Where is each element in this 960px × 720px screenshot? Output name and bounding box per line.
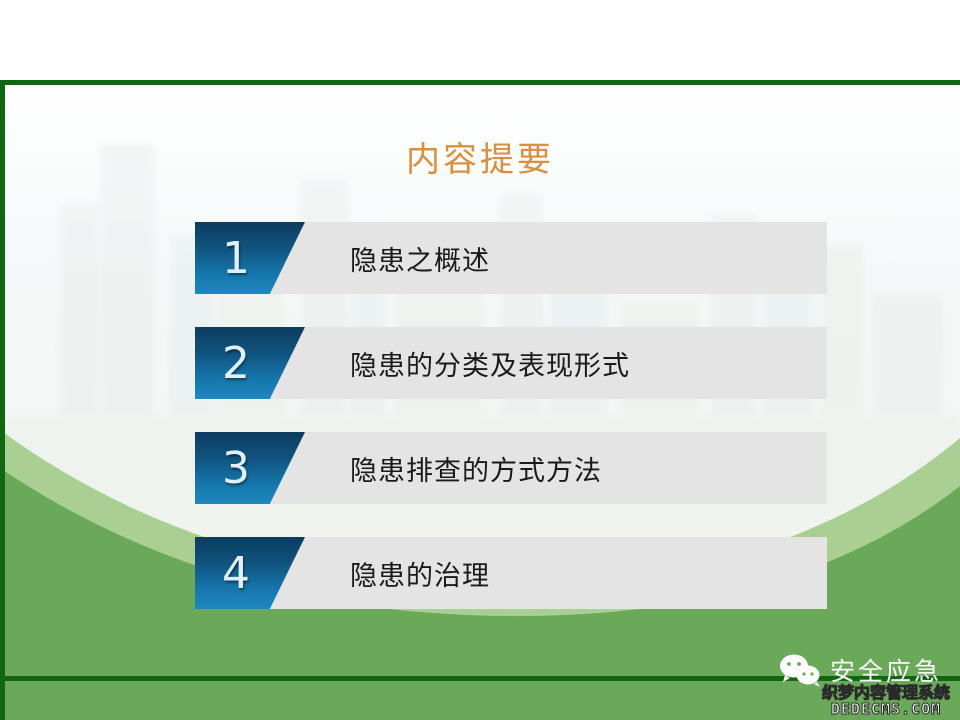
agenda-item-3[interactable]: 3 隐患排查的方式方法 <box>195 432 827 504</box>
agenda-label-4: 隐患的治理 <box>350 537 490 609</box>
agenda-number-4: 4 <box>195 537 277 609</box>
agenda-item-2[interactable]: 2 隐患的分类及表现形式 <box>195 327 827 399</box>
agenda-number-2: 2 <box>195 327 277 399</box>
agenda-number-3: 3 <box>195 432 277 504</box>
agenda-number-badge-2: 2 <box>195 327 305 399</box>
brand-name: 安全应急 <box>830 652 942 688</box>
agenda-number-1: 1 <box>195 222 277 294</box>
agenda-number-badge-3: 3 <box>195 432 305 504</box>
brand-mark: 安全应急 <box>778 652 942 688</box>
wechat-icon <box>778 653 822 687</box>
agenda-item-1[interactable]: 1 隐患之概述 <box>195 222 827 294</box>
agenda-item-4[interactable]: 4 隐患的治理 <box>195 537 827 609</box>
agenda-list: 1 隐患之概述 2 隐患的分类及表现形式 3 隐患排查的方式方法 4 隐患的治理 <box>195 222 827 609</box>
agenda-label-1: 隐患之概述 <box>350 222 490 294</box>
slide-canvas: 内容提要 1 隐患之概述 2 隐患的分类及表现形式 3 隐患排查的方式方法 <box>0 0 960 720</box>
top-green-rule <box>0 80 960 85</box>
page-title: 内容提要 <box>0 132 960 181</box>
agenda-label-2: 隐患的分类及表现形式 <box>350 327 630 399</box>
agenda-number-badge-4: 4 <box>195 537 305 609</box>
agenda-label-3: 隐患排查的方式方法 <box>350 432 602 504</box>
agenda-number-badge-1: 1 <box>195 222 305 294</box>
